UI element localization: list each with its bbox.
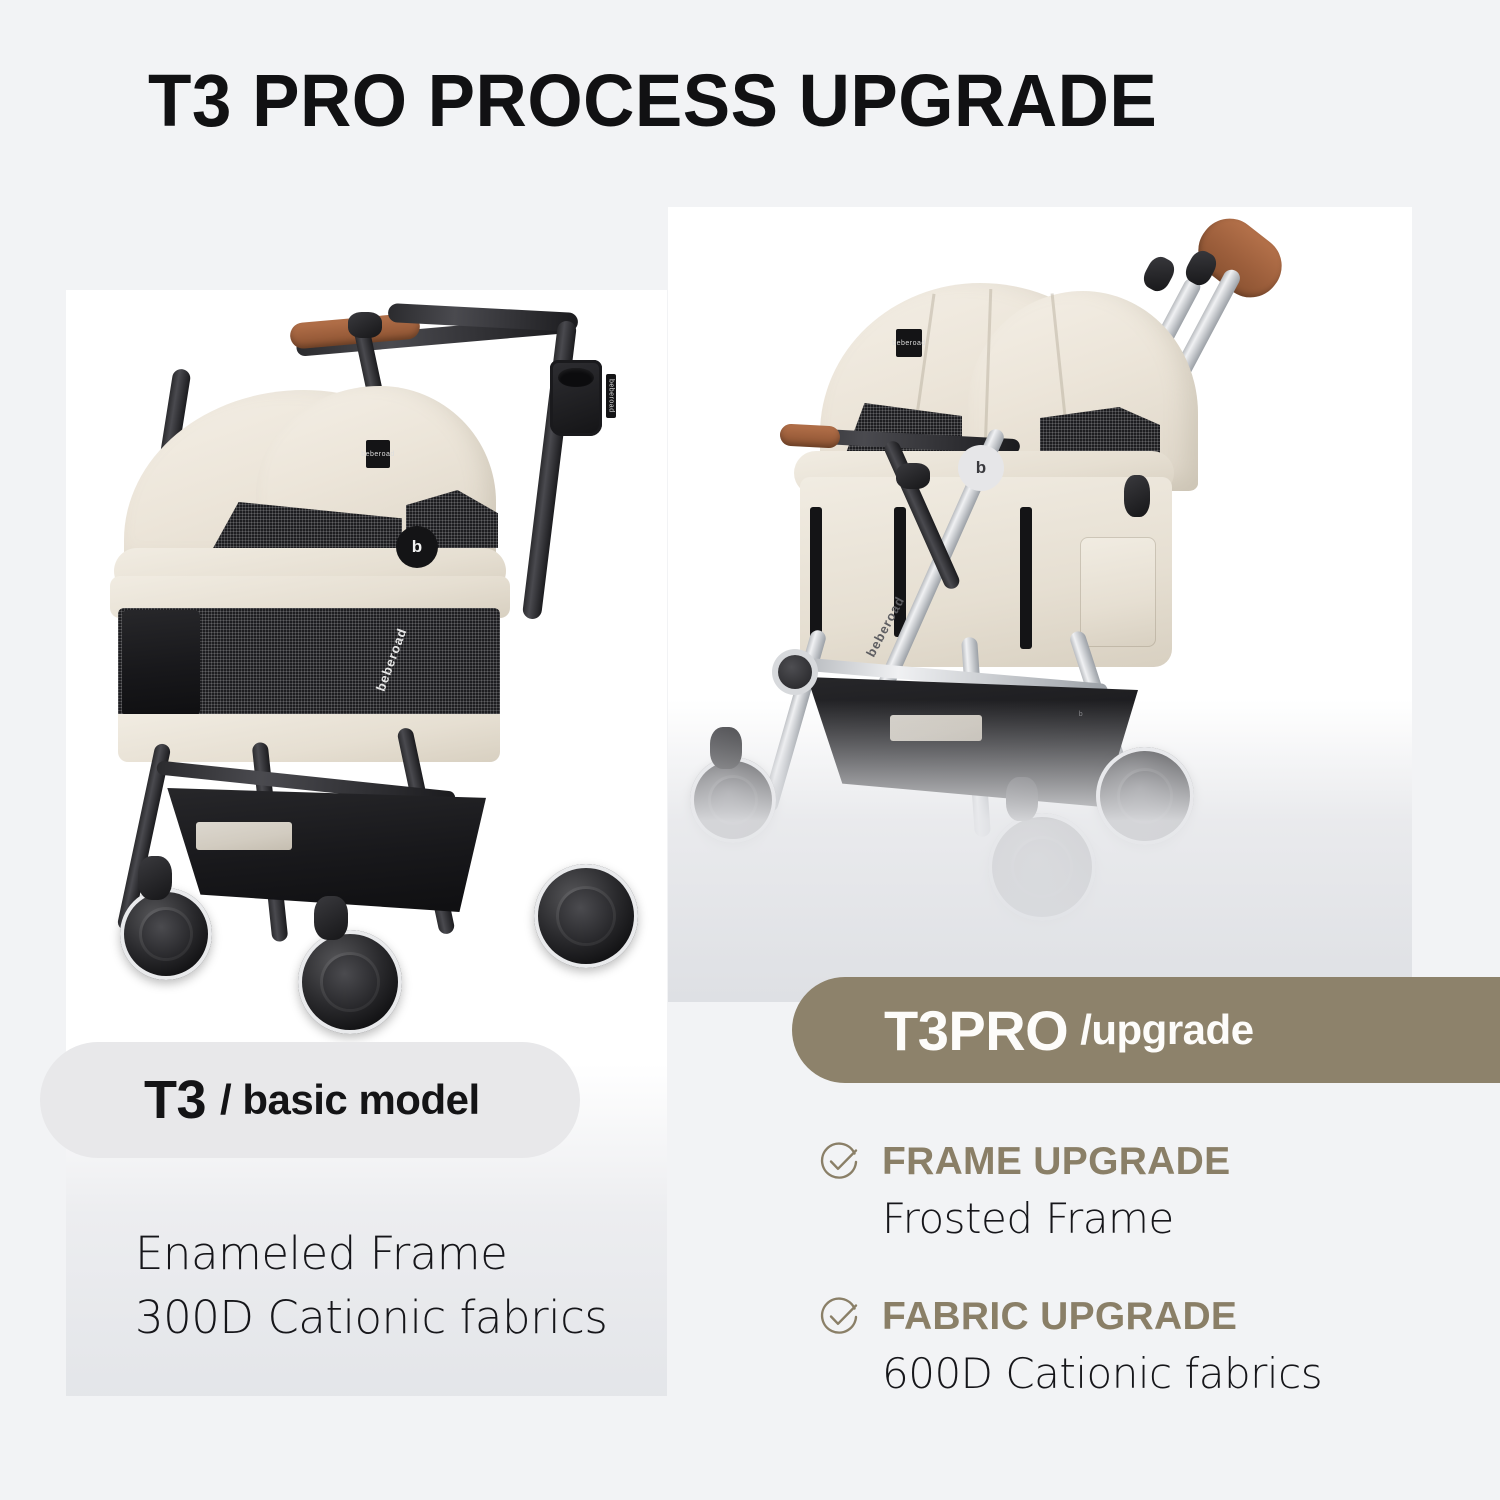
handle-joint: [348, 312, 382, 338]
cup-holder: [550, 360, 602, 436]
right-product-photo-card: beberoad b beberoad b: [668, 207, 1412, 1002]
feature-heading-row: FRAME UPGRADE: [818, 1140, 1468, 1184]
basic-model-code: T3: [144, 1069, 206, 1131]
feature-description: Frosted Frame: [882, 1194, 1468, 1243]
canopy-brand-tag: beberoad: [896, 329, 922, 357]
feature-item: FRAME UPGRADE Frosted Frame: [818, 1140, 1468, 1243]
wheel-front-right: [298, 930, 402, 1034]
basket-liner-patch: [196, 822, 292, 850]
feature-title: FABRIC UPGRADE: [882, 1295, 1237, 1339]
brand-hub-badge: b: [958, 445, 1004, 491]
feature-title: FRAME UPGRADE: [882, 1140, 1230, 1184]
check-circle-icon: [818, 1140, 862, 1184]
basic-spec-list: Enameled Frame 300D Cationic fabrics: [135, 1222, 607, 1350]
storage-basket: [154, 788, 486, 912]
carrier-strap-rear: [1020, 507, 1032, 649]
carrier-side-pocket: [122, 610, 200, 716]
wheel-rear: [534, 864, 638, 968]
basic-spec-item: 300D Cationic fabrics: [135, 1286, 607, 1350]
page-title: T3 PRO PROCESS UPGRADE: [148, 58, 1157, 143]
carrier-side-pocket: [1080, 537, 1156, 647]
handle-clamp-front: [1140, 253, 1179, 295]
right-photo-floor-shadow: [668, 700, 1412, 1002]
carrier-strap-front: [810, 507, 822, 643]
pro-feature-list: FRAME UPGRADE Frosted Frame FABRIC UPGRA…: [818, 1140, 1468, 1398]
right-stroller-illustration: beberoad b beberoad b: [668, 207, 1412, 1002]
basic-spec-item: Enameled Frame: [135, 1222, 607, 1286]
frame-joint-left: [896, 463, 930, 489]
wheel-fork-front-right: [314, 896, 348, 940]
feature-description: 600D Cationic fabrics: [882, 1349, 1468, 1398]
pro-model-desc: /upgrade: [1080, 1006, 1253, 1054]
feature-item: FABRIC UPGRADE 600D Cationic fabrics: [818, 1295, 1468, 1398]
cup-holder-brand-tag: beberoad: [606, 374, 616, 418]
frame-joint-right: [1124, 475, 1150, 517]
canopy-brand-tag: beberoad: [366, 440, 390, 468]
brand-badge: b: [396, 526, 438, 568]
bumper-bar-grip: [779, 423, 840, 448]
fold-hub: [778, 655, 812, 689]
basic-model-desc: / basic model: [220, 1076, 480, 1124]
basic-model-pill: T3 / basic model: [40, 1042, 580, 1158]
check-circle-icon: [818, 1295, 862, 1339]
wheel-front-left: [120, 888, 212, 980]
carrier-lower-band: [118, 714, 500, 762]
pro-model-pill: T3PRO /upgrade: [792, 977, 1500, 1083]
feature-heading-row: FABRIC UPGRADE: [818, 1295, 1468, 1339]
wheel-fork-front-left: [138, 856, 172, 900]
pro-model-code: T3PRO: [884, 998, 1068, 1063]
